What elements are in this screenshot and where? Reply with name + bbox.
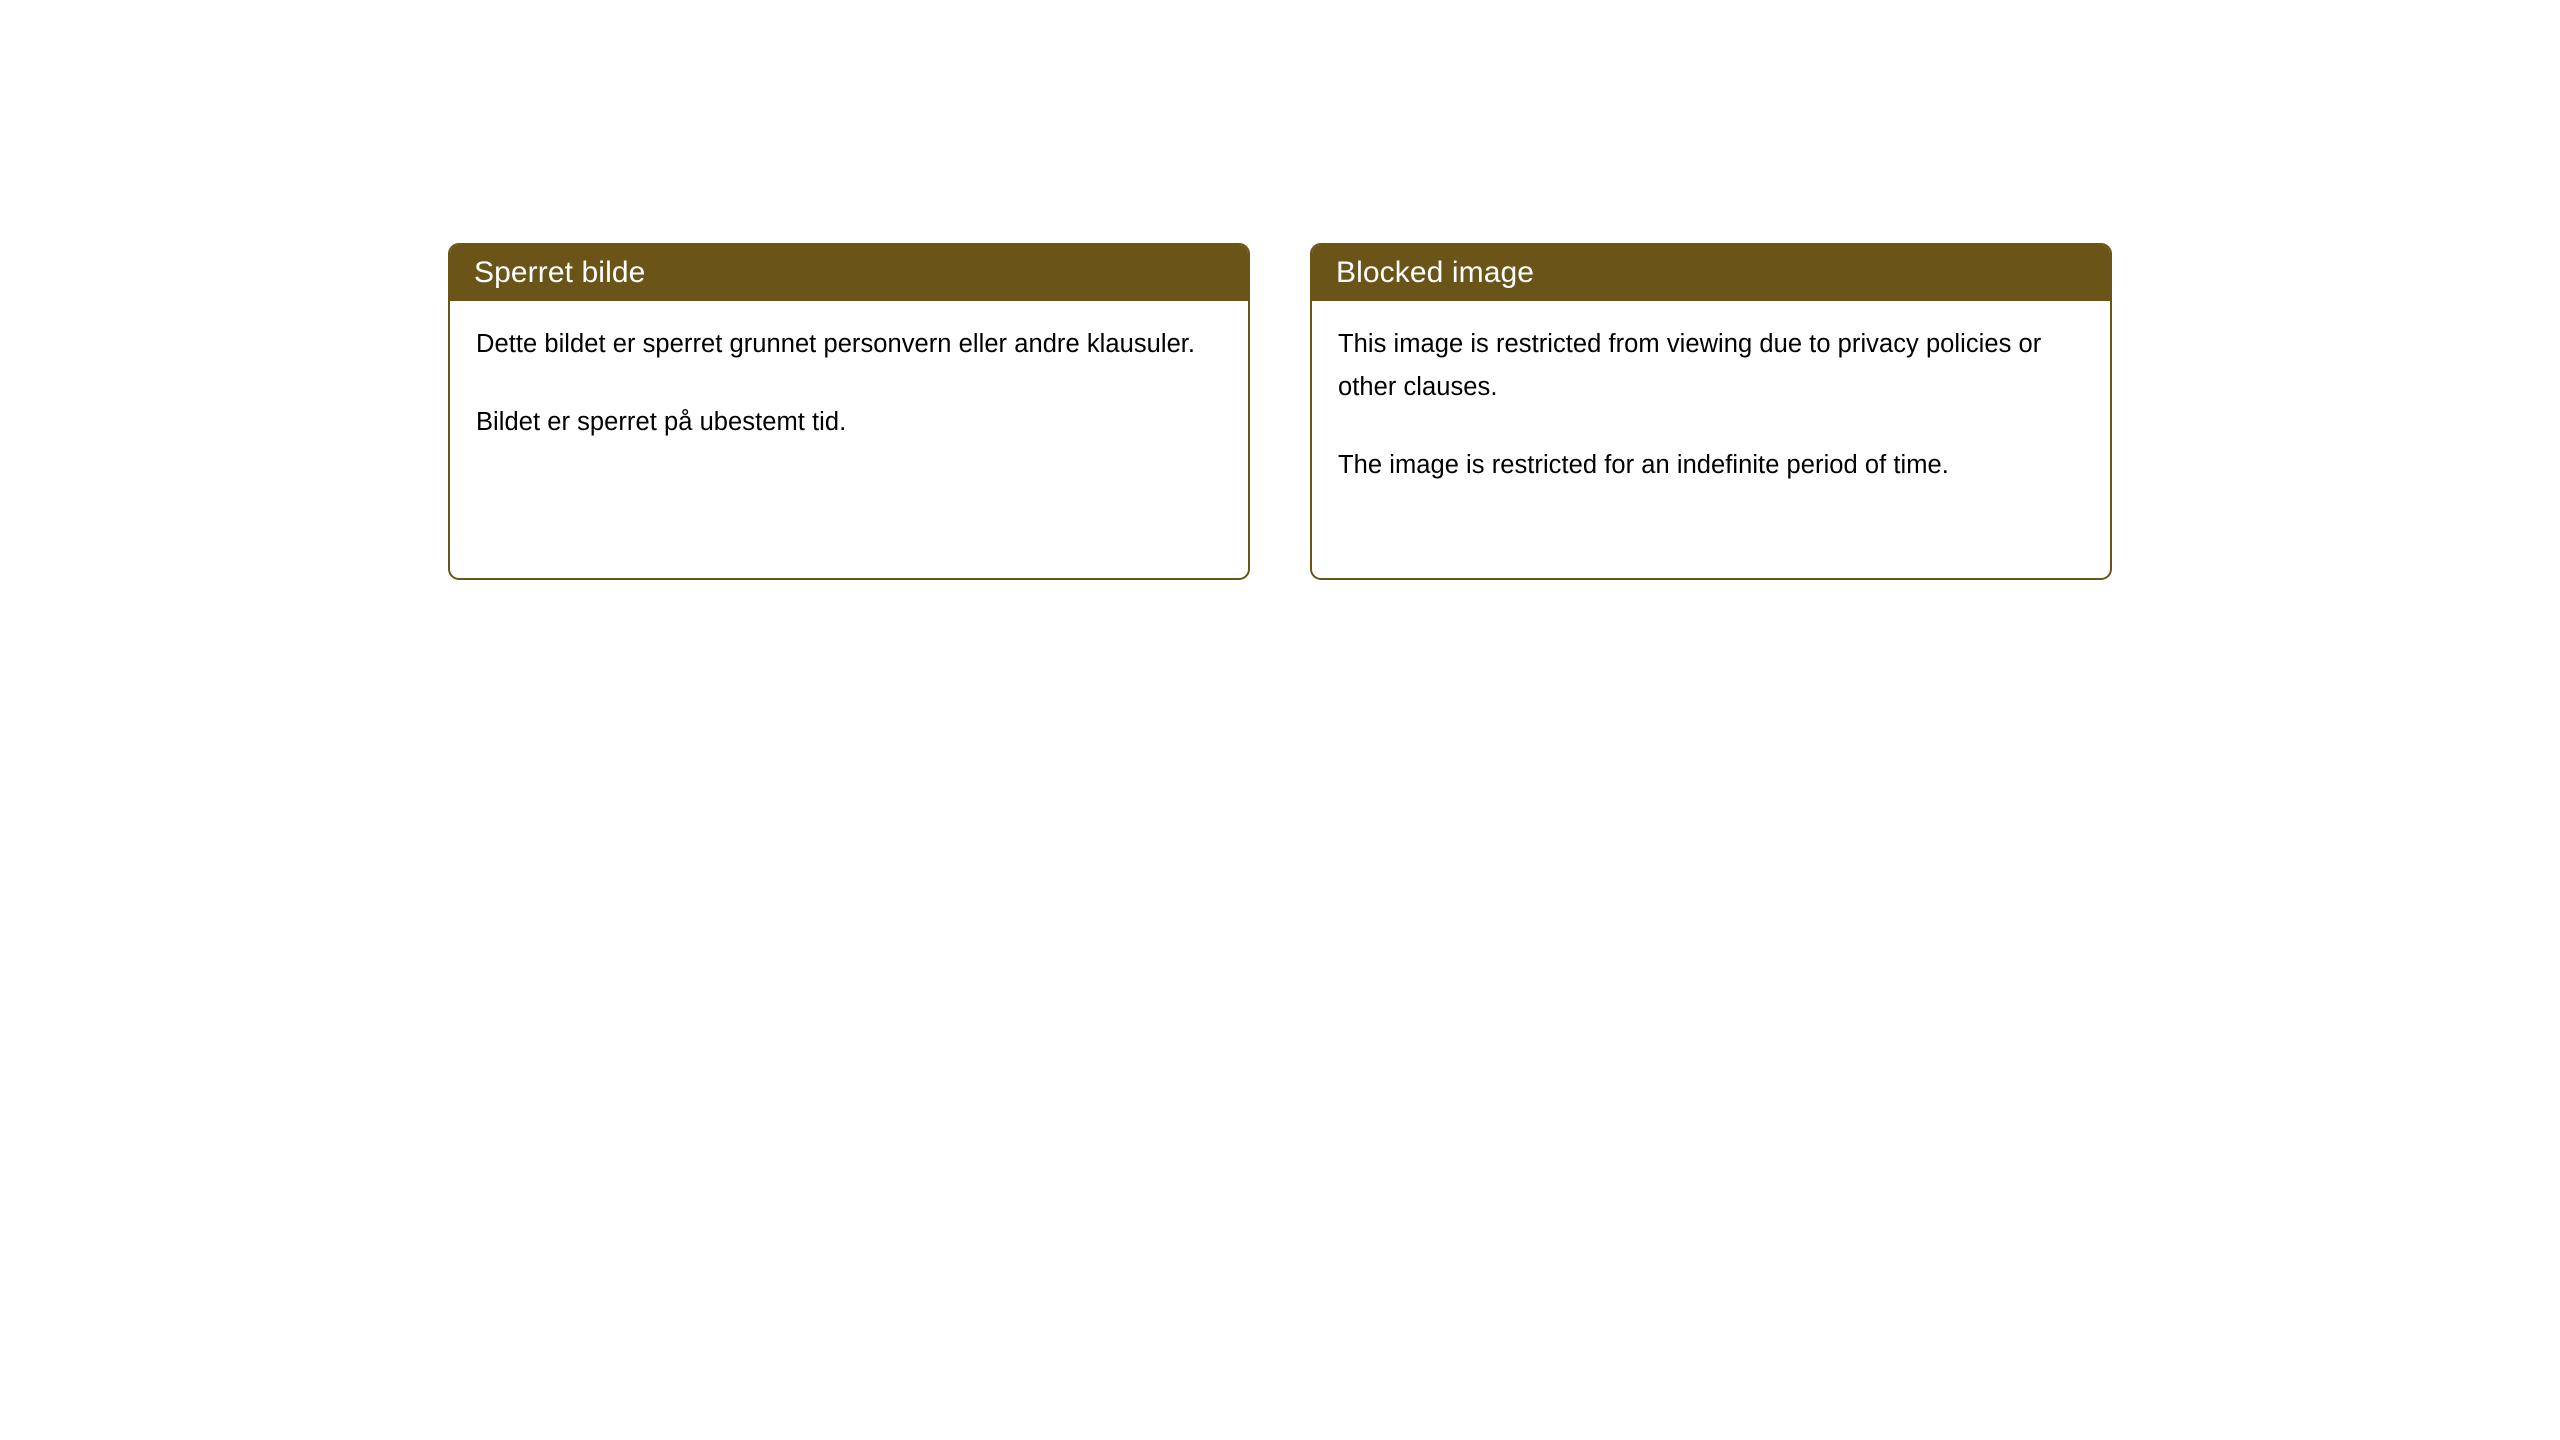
panel-paragraph-primary-english: This image is restricted from viewing du… [1338, 323, 2084, 409]
panel-paragraph-secondary-norwegian: Bildet er sperret på ubestemt tid. [476, 401, 1222, 444]
panel-paragraph-secondary-english: The image is restricted for an indefinit… [1338, 444, 2084, 487]
panel-body-english: This image is restricted from viewing du… [1312, 301, 2110, 487]
page-canvas: Sperret bilde Dette bildet er sperret gr… [0, 0, 2560, 1440]
blocked-image-panel-norwegian: Sperret bilde Dette bildet er sperret gr… [448, 243, 1250, 580]
panel-header-norwegian: Sperret bilde [448, 243, 1250, 301]
panel-title-norwegian: Sperret bilde [474, 258, 645, 288]
panel-title-english: Blocked image [1336, 258, 1534, 288]
blocked-image-panel-english: Blocked image This image is restricted f… [1310, 243, 2112, 580]
panel-paragraph-primary-norwegian: Dette bildet er sperret grunnet personve… [476, 323, 1222, 366]
panel-body-norwegian: Dette bildet er sperret grunnet personve… [450, 301, 1248, 444]
panel-header-english: Blocked image [1310, 243, 2112, 301]
